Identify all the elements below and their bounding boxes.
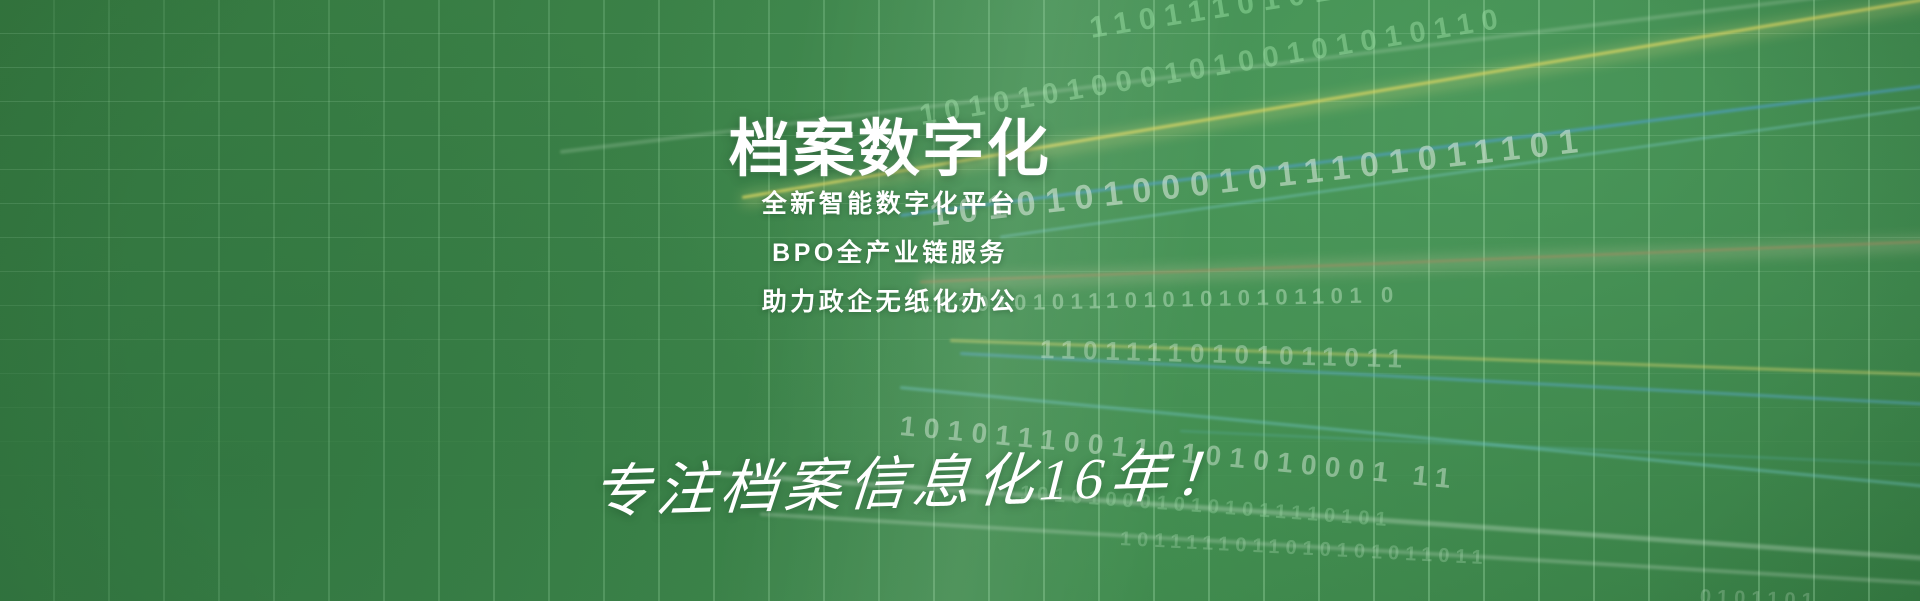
vignette-overlay [0,0,1920,601]
hero-banner: 1101110101011101010101000101001010101101… [0,0,1920,601]
